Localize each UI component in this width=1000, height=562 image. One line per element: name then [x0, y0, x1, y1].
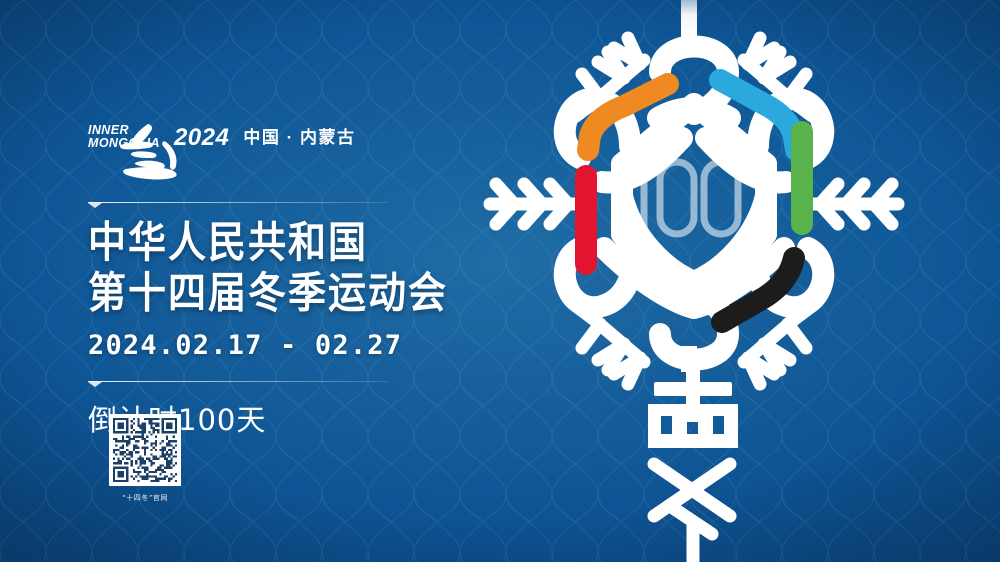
divider-top — [88, 198, 388, 208]
inner-mongolia-calligraphy-mark-icon — [104, 122, 190, 184]
page-title: 中华人民共和国 第十四届冬季运动会 — [88, 218, 508, 319]
left-content-column: INNER MONGOLIA 2024 中国 · 内蒙古 中华人民共和国 第十四… — [88, 84, 508, 439]
qr-code-icon[interactable] — [109, 414, 181, 486]
poster-root: INNER MONGOLIA 2024 中国 · 内蒙古 中华人民共和国 第十四… — [0, 0, 1000, 562]
event-date-range: 2024.02.17 - 02.27 — [88, 330, 508, 361]
brand-location: 中国 · 内蒙古 — [243, 128, 355, 149]
divider-bottom — [88, 377, 388, 387]
emblem-vertical-script — [648, 358, 738, 562]
snowflake-knot-emblem — [472, 0, 916, 562]
brand-logo: INNER MONGOLIA 2024 中国 · 内蒙古 — [88, 124, 508, 186]
qr-code-block[interactable]: “十四冬”官网 — [90, 414, 200, 503]
qr-code-canvas — [113, 418, 177, 482]
title-line-1: 中华人民共和国 — [88, 218, 508, 268]
title-line-2: 第十四届冬季运动会 — [88, 268, 508, 318]
qr-code-caption: “十四冬”官网 — [90, 493, 200, 503]
